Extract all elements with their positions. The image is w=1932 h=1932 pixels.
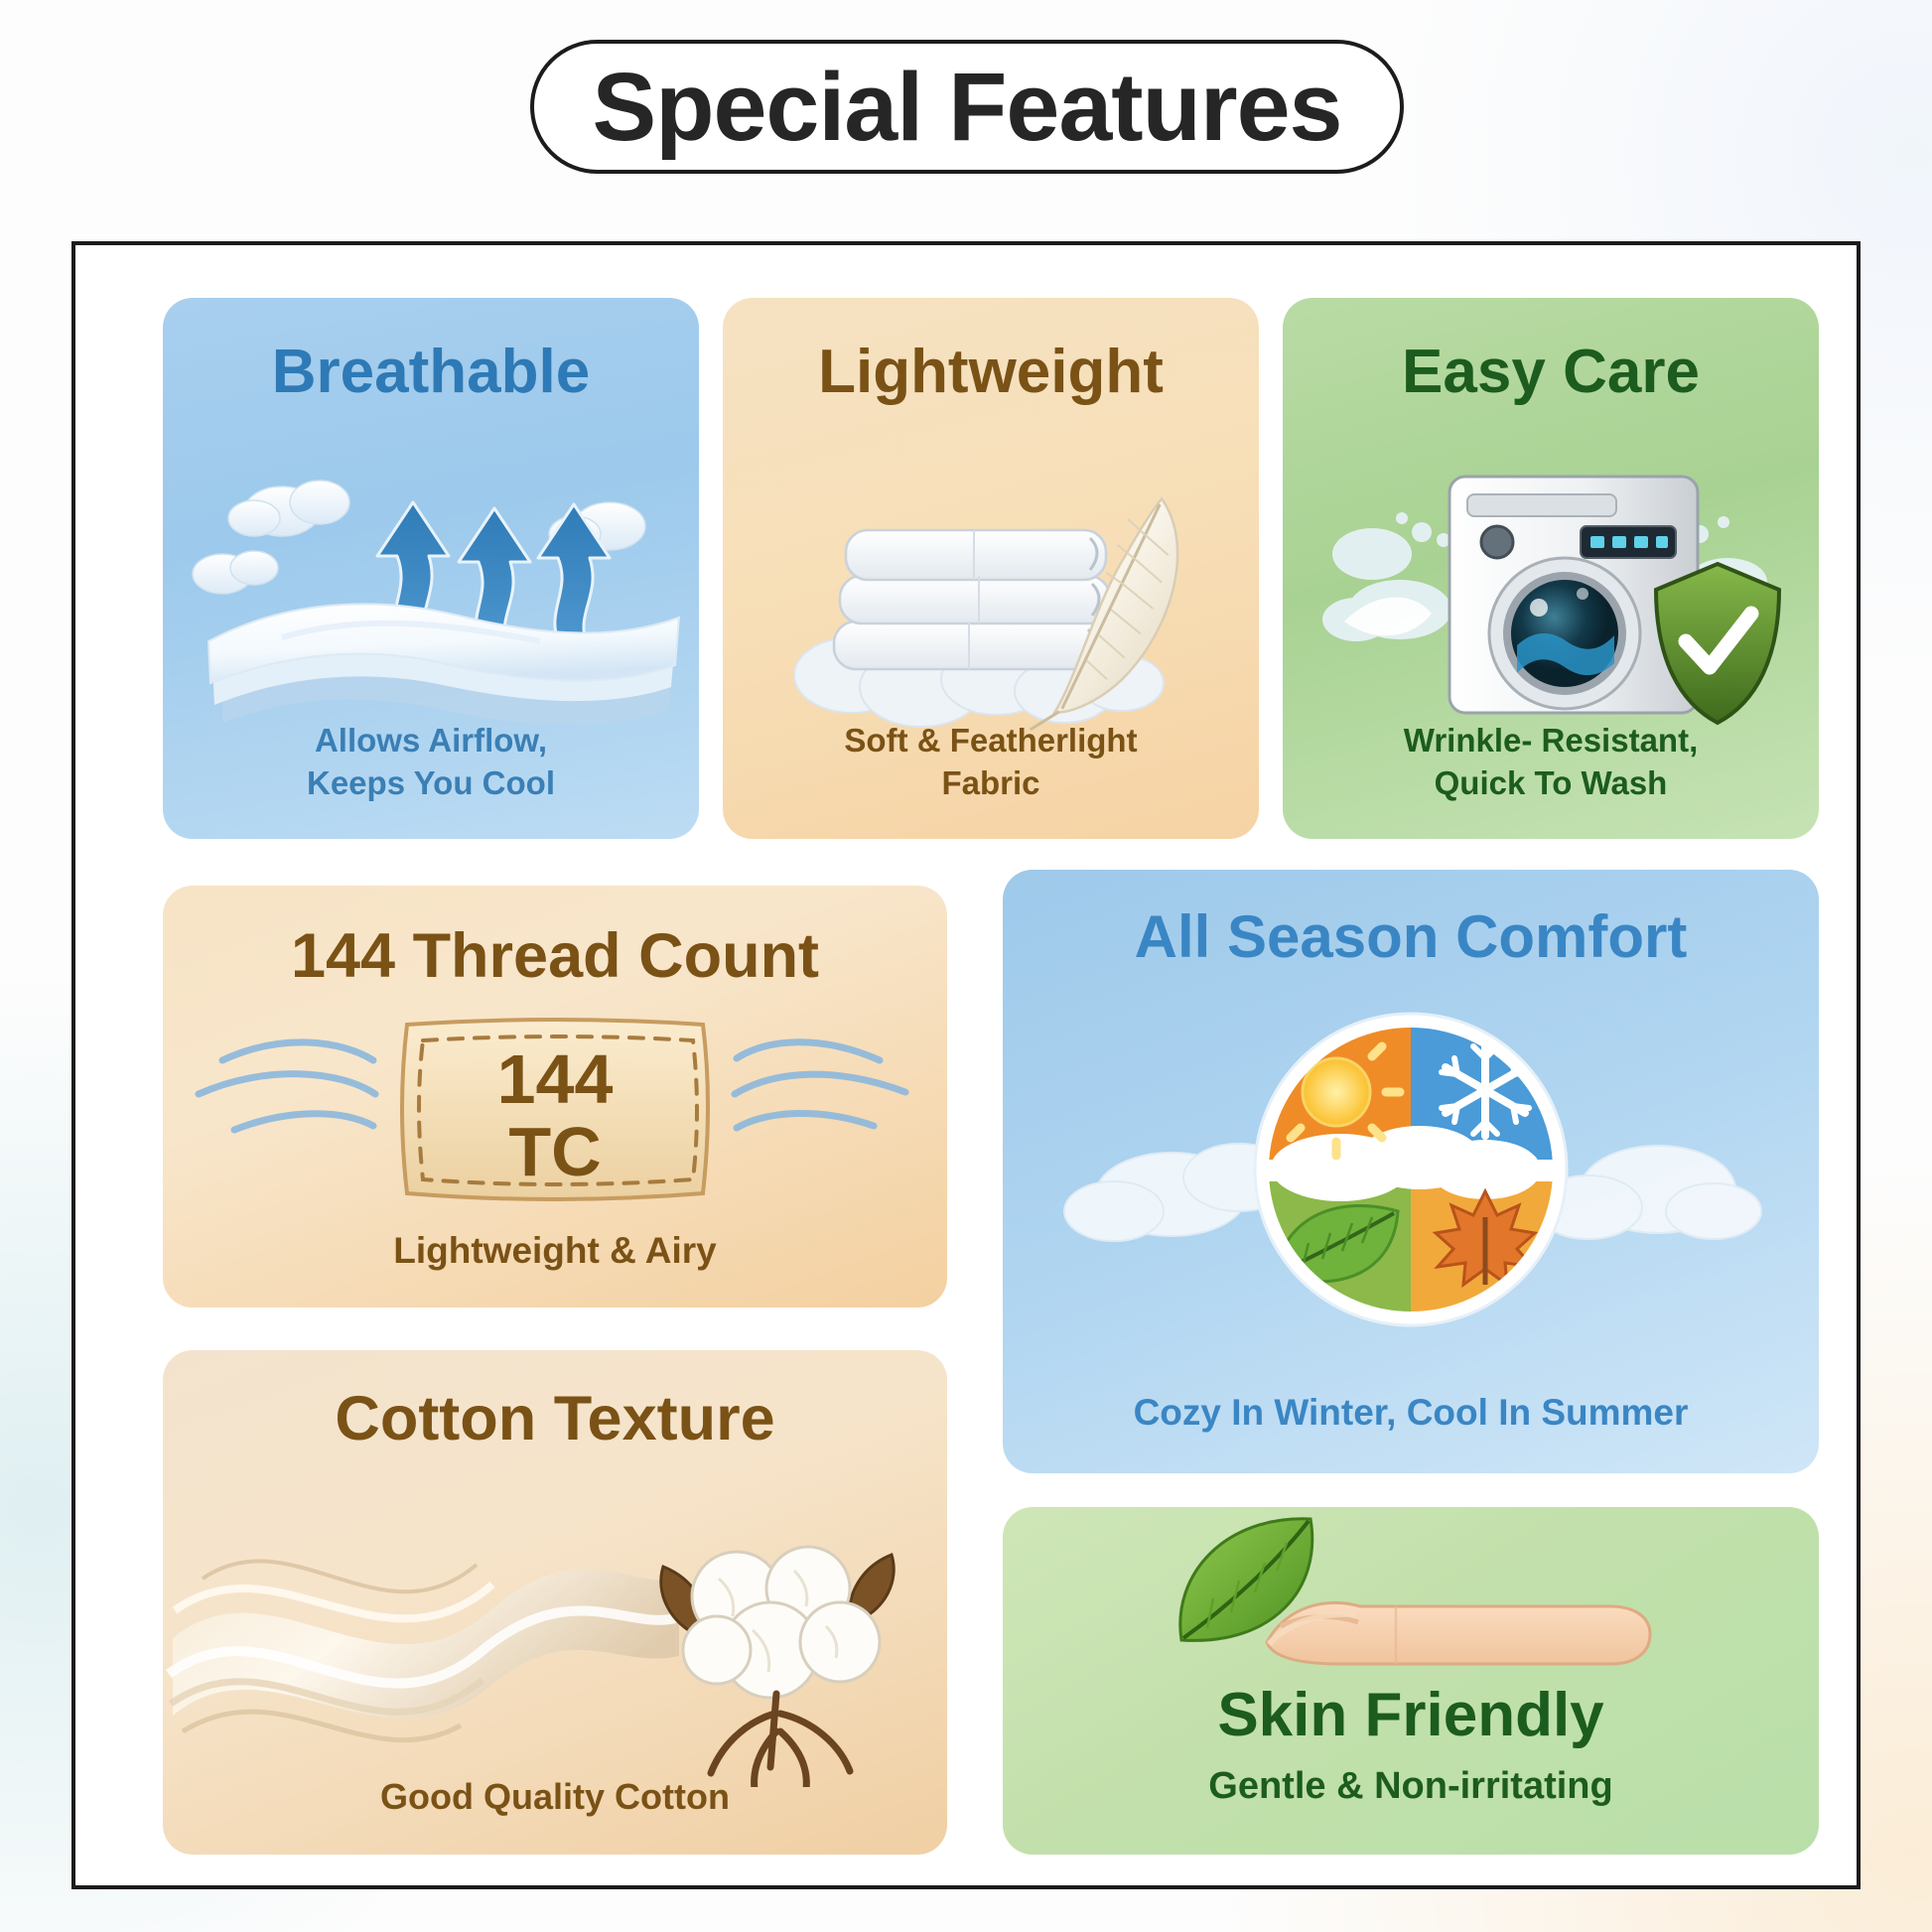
folded-sheets-feather-icon [723,427,1259,745]
feature-caption-line1: Soft & Featherlight [723,719,1259,762]
feature-card-skin-friendly[interactable]: Skin Friendly Gentle & Non-irritating [1003,1507,1819,1855]
feature-caption: Allows Airflow, Keeps You Cool [163,719,699,805]
feature-card-easycare[interactable]: Easy Care [1283,298,1819,839]
feature-title: Skin Friendly [1003,1683,1819,1747]
feature-card-lightweight[interactable]: Lightweight [723,298,1259,839]
feature-caption: Gentle & Non-irritating [1003,1761,1819,1811]
page-title-pill: Special Features [530,40,1404,174]
thread-count-unit: TC [508,1114,601,1190]
feature-title: Breathable [163,340,699,404]
feature-caption-line1: Gentle & Non-irritating [1003,1761,1819,1811]
feature-caption-line1: Good Quality Cotton [163,1773,947,1821]
feature-caption-line2: Fabric [723,761,1259,805]
feature-caption-line1: Lightweight & Airy [163,1227,947,1276]
four-seasons-wheel-icon [1003,981,1819,1378]
feature-title: All Season Comfort [1003,905,1819,968]
feature-caption: Lightweight & Airy [163,1227,947,1276]
hand-holding-leaf-icon [1162,1507,1678,1692]
feature-caption-line1: Wrinkle- Resistant, [1283,719,1819,762]
feature-title: Lightweight [723,340,1259,404]
feature-title: Cotton Texture [163,1386,947,1451]
feature-card-thread-count[interactable]: 144 Thread Count [163,886,947,1308]
feature-caption-line2: Quick To Wash [1283,761,1819,805]
page-title: Special Features [593,59,1342,155]
feature-card-all-season-comfort[interactable]: All Season Comfort [1003,870,1819,1473]
feature-caption-line1: Allows Airflow, [163,719,699,762]
feature-title: Easy Care [1283,340,1819,404]
fabric-airflow-arrows-icon [163,417,699,745]
feature-card-cotton-texture[interactable]: Cotton Texture [163,1350,947,1855]
feature-card-breathable[interactable]: Breathable [163,298,699,839]
feature-caption-line1: Cozy In Winter, Cool In Summer [1003,1389,1819,1438]
feature-caption: Good Quality Cotton [163,1773,947,1821]
feature-caption-line2: Keeps You Cool [163,761,699,805]
feature-title: 144 Thread Count [163,923,947,989]
cotton-fibers-boll-icon [163,1459,947,1787]
feature-caption: Cozy In Winter, Cool In Summer [1003,1389,1819,1438]
feature-caption: Wrinkle- Resistant, Quick To Wash [1283,719,1819,805]
thread-count-value: 144 [497,1044,614,1114]
washing-machine-shield-check-icon [1283,415,1819,743]
feature-caption: Soft & Featherlight Fabric [723,719,1259,805]
